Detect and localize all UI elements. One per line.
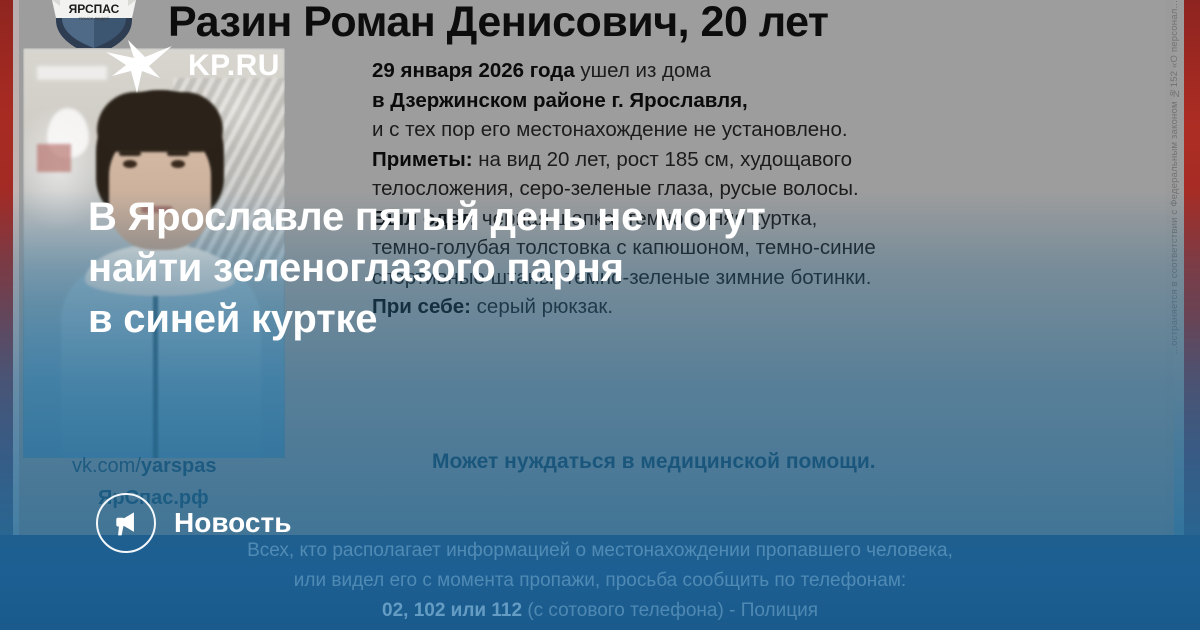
megaphone-icon [96, 493, 156, 553]
photo-eyebrow-left [119, 151, 141, 156]
shield-logo-subtext: ПОИСК ЛЮДЕЙ [79, 16, 109, 21]
vk-handle-name: yarspas [141, 455, 217, 477]
photo-red-detail [37, 144, 71, 172]
poster-body-line: Приметы: на вид 20 лет, рост 185 см, худ… [372, 145, 1032, 175]
poster-line-bold: в Дзержинском районе г. Ярославля, [372, 89, 748, 112]
poster-line-rest: на вид 20 лет, рост 185 см, худощавого [473, 148, 853, 171]
poster-body-line: и с тех пор его местонахождение не устан… [372, 115, 1032, 145]
poster-legal-vertical-text: ...остраняется в соответствии с Федераль… [1166, 0, 1182, 500]
social-share-card: ЯРСПАС ПОИСК ЛЮДЕЙ [0, 0, 1200, 630]
qr-code: vk [30, 545, 124, 630]
headline-line-2: найти зеленоглазого парня [88, 243, 668, 294]
poster-medical-note: Может нуждаться в медицинской помощи. [432, 450, 876, 474]
news-badge-label: Новость [174, 507, 291, 539]
photo-fringe [97, 92, 223, 152]
photo-ceiling-detail [37, 66, 107, 80]
kp-ru-brand-lockup[interactable]: KP.RU [104, 38, 280, 94]
poster-line-bold: 29 января 2026 года [372, 59, 575, 82]
photo-eyebrow-right [167, 151, 189, 156]
poster-vk-handle: vk.com/yarspas [72, 455, 217, 478]
photo-eye-left [123, 160, 137, 168]
poster-body-line: 29 января 2026 года ушел из дома [372, 56, 1032, 86]
headline-line-3: в синей куртке [88, 294, 668, 345]
news-badge[interactable]: Новость [96, 493, 291, 553]
poster-body-line: в Дзержинском районе г. Ярославля, [372, 86, 1032, 116]
poster-line-rest: ушел из дома [575, 59, 711, 82]
photo-eye-right [171, 160, 185, 168]
poster-left-border [0, 0, 19, 630]
qr-finder-bottom-left [40, 603, 72, 630]
qr-vk-logo: vk [64, 581, 90, 597]
poster-line-bold: Приметы: [372, 148, 473, 171]
vk-prefix: vk.com/ [72, 455, 141, 477]
poster-right-border [1184, 0, 1200, 630]
qr-finder-top-right [88, 555, 120, 587]
headline: В Ярославле пятый день не могут найти зе… [88, 192, 668, 345]
legal-text: ...остраняется в соответствии с Федераль… [1169, 0, 1180, 354]
shield-logo-text: ЯРСПАС [69, 2, 120, 16]
swallow-bird-icon [104, 38, 174, 94]
kp-ru-brand-text: KP.RU [188, 49, 280, 83]
headline-line-1: В Ярославле пятый день не могут [88, 192, 668, 243]
poster-line-rest: и с тех пор его местонахождение не устан… [372, 118, 848, 141]
